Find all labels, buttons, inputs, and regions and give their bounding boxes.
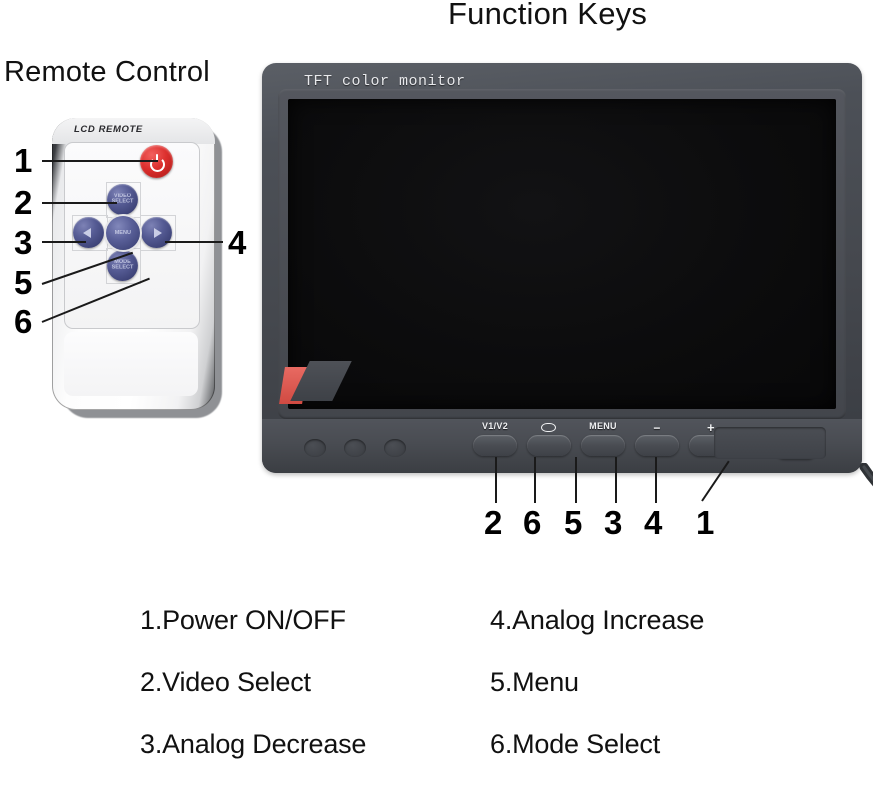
- monitor-callout-5: 5: [564, 506, 582, 539]
- monitor-bottom-bezel: V1/V2 MENU − +: [262, 419, 862, 473]
- arrow-right-icon: [154, 228, 162, 238]
- remote-control-title: Remote Control: [4, 56, 210, 89]
- monitor-menu-button[interactable]: [581, 435, 625, 456]
- monitor-analog-decrease-button[interactable]: [635, 435, 679, 456]
- monitor-sensor-2: [344, 439, 366, 457]
- legend-item-3: 3.Analog Decrease: [140, 729, 366, 760]
- monitor-callout-2: 2: [484, 506, 502, 539]
- monitor-mode-select-button[interactable]: [527, 435, 571, 456]
- legend-item-5: 5.Menu: [490, 667, 579, 698]
- monitor-callout-6: 6: [523, 506, 541, 539]
- diagram-canvas: Function Keys Remote Control LCD REMOTE …: [0, 0, 873, 788]
- remote-lower-plate: [64, 332, 198, 396]
- monitor-leader-3: [615, 457, 617, 503]
- remote-leader-3: [42, 241, 86, 243]
- remote-leader-1: [42, 160, 158, 162]
- legend-item-4: 4.Analog Increase: [490, 605, 704, 636]
- remote-leader-2: [42, 202, 117, 204]
- monitor-brand-label: TFT color monitor: [304, 73, 466, 90]
- remote-brand-label: LCD REMOTE: [74, 124, 143, 135]
- arrow-left-icon: [83, 228, 91, 238]
- button-label-menu: MENU: [581, 421, 625, 431]
- monitor-callout-3: 3: [604, 506, 622, 539]
- remote-video-select-button[interactable]: VIDEO SELECT: [107, 184, 138, 215]
- remote-analog-increase-button[interactable]: [141, 217, 172, 248]
- remote-leader-4: [165, 241, 223, 243]
- monitor-video-select-button[interactable]: [473, 435, 517, 456]
- monitor-sensor-3: [384, 439, 406, 457]
- remote-mode-select-label: MODE SELECT: [108, 260, 137, 272]
- remote-callout-3: 3: [14, 226, 32, 259]
- legend-item-1: 1.Power ON/OFF: [140, 605, 346, 636]
- monitor-callout-1: 1: [696, 506, 714, 539]
- button-label-v1v2: V1/V2: [473, 421, 517, 431]
- monitor-leader-4: [655, 457, 657, 503]
- remote-callout-5: 5: [14, 266, 32, 299]
- legend-item-2: 2.Video Select: [140, 667, 311, 698]
- monitor-callout-4: 4: [644, 506, 662, 539]
- remote-menu-button[interactable]: MENU: [106, 216, 140, 250]
- monitor-rear-housing: [714, 427, 826, 459]
- monitor-screen: [288, 99, 836, 409]
- remote-callout-1: 1: [14, 144, 32, 177]
- monitor-sensor-1: [304, 439, 326, 457]
- function-keys-title: Function Keys: [448, 0, 647, 32]
- remote-control-illustration: LCD REMOTE VIDEO SELECT MOD: [52, 118, 227, 418]
- button-label-minus: −: [635, 421, 679, 435]
- monitor-leader-6: [534, 457, 536, 503]
- remote-menu-label: MENU: [115, 230, 131, 236]
- remote-callout-2: 2: [14, 186, 32, 219]
- tft-monitor-illustration: TFT color monitor V1/V2 MENU − +: [262, 63, 862, 473]
- monitor-leader-5: [575, 457, 577, 503]
- legend-item-6: 6.Mode Select: [490, 729, 660, 760]
- monitor-power-cable: [858, 463, 873, 583]
- remote-analog-decrease-button[interactable]: [73, 217, 104, 248]
- remote-callout-6: 6: [14, 305, 32, 338]
- mode-select-icon: [541, 423, 556, 432]
- monitor-leader-2: [495, 457, 497, 503]
- remote-callout-4: 4: [228, 226, 246, 259]
